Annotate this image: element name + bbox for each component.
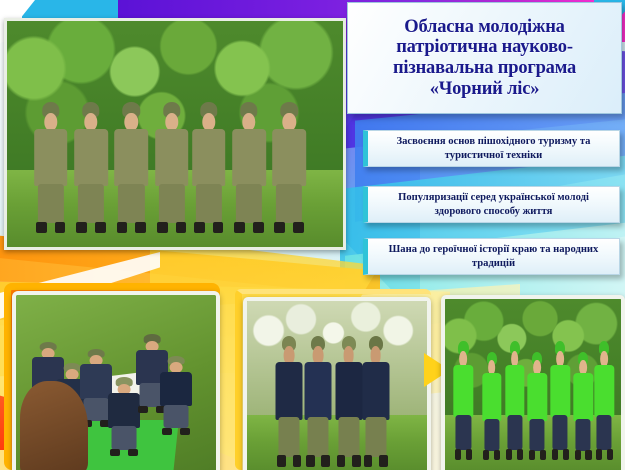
- bl-hair-foreground: [20, 381, 88, 470]
- photo-figure: [362, 336, 389, 467]
- objective-text-1: Засвоєння основ пішохідного туризму та т…: [375, 135, 612, 161]
- photo-figure: [232, 102, 266, 233]
- bm-people: [247, 301, 427, 470]
- photo-figure: [272, 102, 306, 233]
- photo-figure: [160, 356, 192, 435]
- page-title-line: патріотична науково-: [393, 37, 576, 58]
- bottom-left-photo: [12, 291, 220, 470]
- page-title: Обласна молодіжнапатріотична науково-піз…: [393, 17, 576, 100]
- photo-figure: [34, 102, 68, 233]
- photo-figure: [276, 336, 303, 467]
- objective-box-2: Популяризації серед української молоді з…: [363, 186, 620, 223]
- photo-figure: [305, 336, 332, 467]
- br-people: [445, 299, 621, 470]
- page-title-line: Обласна молодіжна: [393, 17, 576, 38]
- photo-figure: [573, 352, 592, 461]
- photo-figure: [528, 352, 547, 461]
- photo-figure: [335, 336, 362, 467]
- page-title-line: пізнавальна програма: [393, 58, 576, 79]
- objective-box-3: Шана до героїчної історії краю та народн…: [363, 238, 620, 275]
- photo-figure: [551, 341, 570, 460]
- photo-figure: [595, 341, 614, 460]
- main-photo: [4, 18, 346, 250]
- objective-text-2: Популяризації серед української молоді з…: [375, 191, 612, 217]
- objective-text-3: Шана до героїчної історії краю та народн…: [375, 243, 612, 269]
- presentation-slide: Обласна молодіжнапатріотична науково-піз…: [0, 0, 625, 470]
- photo-figure: [482, 352, 501, 461]
- photo-figure: [115, 102, 149, 233]
- objective-box-1: Засвоєння основ пішохідного туризму та т…: [363, 130, 620, 167]
- photo-figure: [192, 102, 226, 233]
- photo-figure: [454, 341, 473, 460]
- page-title-line: «Чорний ліс»: [393, 79, 576, 100]
- photo-figure: [74, 102, 108, 233]
- bl-people: [16, 295, 216, 470]
- bottom-middle-photo: [243, 297, 431, 470]
- photo-figure: [505, 341, 524, 460]
- main-photo-people: [7, 21, 343, 247]
- title-box: Обласна молодіжнапатріотична науково-піз…: [347, 2, 622, 114]
- bottom-right-photo: [441, 295, 625, 470]
- photo-figure: [155, 102, 189, 233]
